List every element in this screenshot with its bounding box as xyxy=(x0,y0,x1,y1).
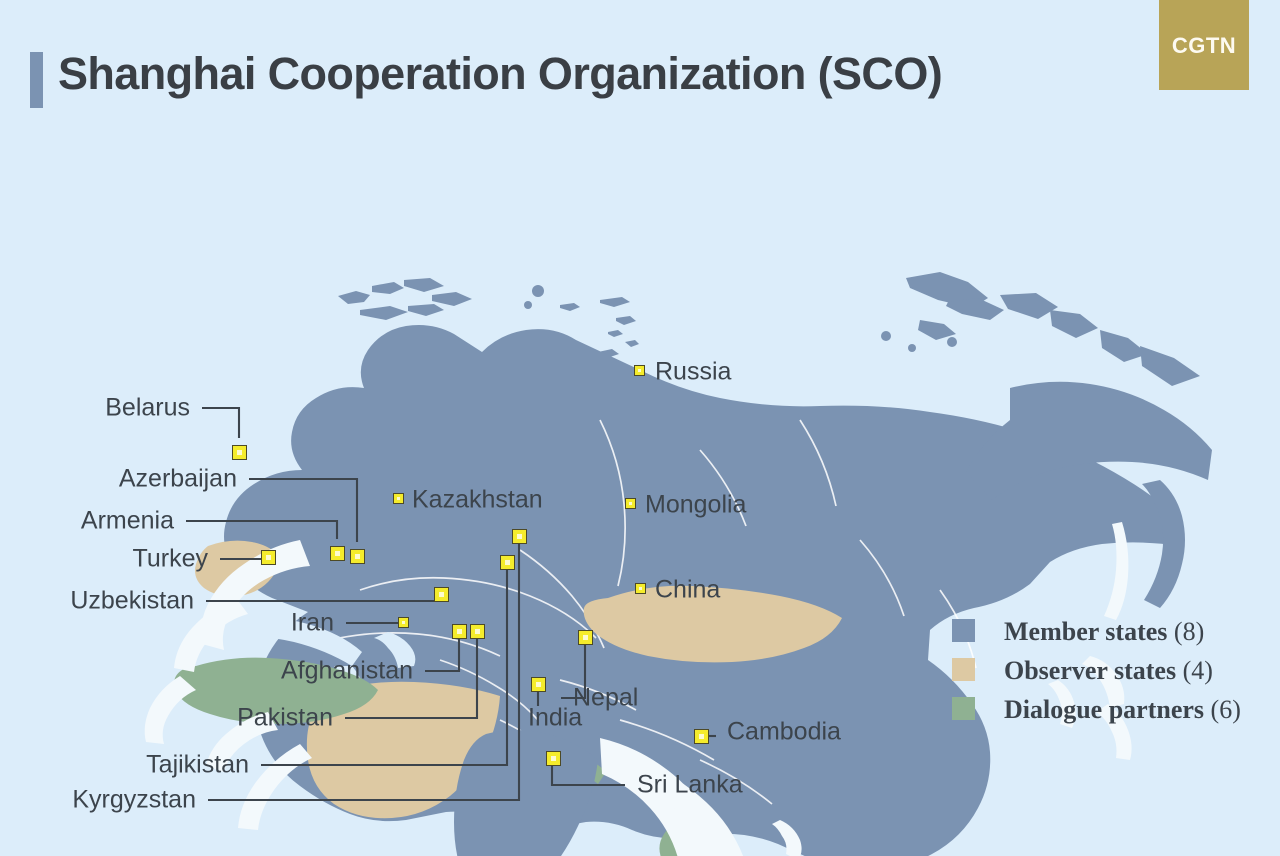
legend-label-observer: Observer states xyxy=(1004,656,1176,685)
asia-map-svg xyxy=(0,120,1280,856)
legend-count-member: (8) xyxy=(1174,617,1204,646)
legend-label-member: Member states xyxy=(1004,617,1167,646)
page-header: Shanghai Cooperation Organization (SCO) … xyxy=(0,0,1280,130)
legend-count-observer: (4) xyxy=(1183,656,1213,685)
cgtn-logo: CGTN xyxy=(1159,0,1249,90)
title-accent-bar xyxy=(30,52,43,108)
legend-swatch-dialogue xyxy=(952,697,975,720)
cgtn-logo-text: CGTN xyxy=(1159,33,1249,59)
map-container xyxy=(0,120,1280,856)
page-title: Shanghai Cooperation Organization (SCO) xyxy=(58,48,942,100)
india-member xyxy=(454,730,598,856)
legend-swatch-observer xyxy=(952,658,975,681)
siberian-islands xyxy=(881,272,1200,386)
map-landmasses xyxy=(145,272,1212,856)
legend-count-dialogue: (6) xyxy=(1211,695,1241,724)
legend-swatch-member xyxy=(952,619,975,642)
legend-label-dialogue: Dialogue partners xyxy=(1004,695,1204,724)
balkans-land xyxy=(145,676,196,744)
